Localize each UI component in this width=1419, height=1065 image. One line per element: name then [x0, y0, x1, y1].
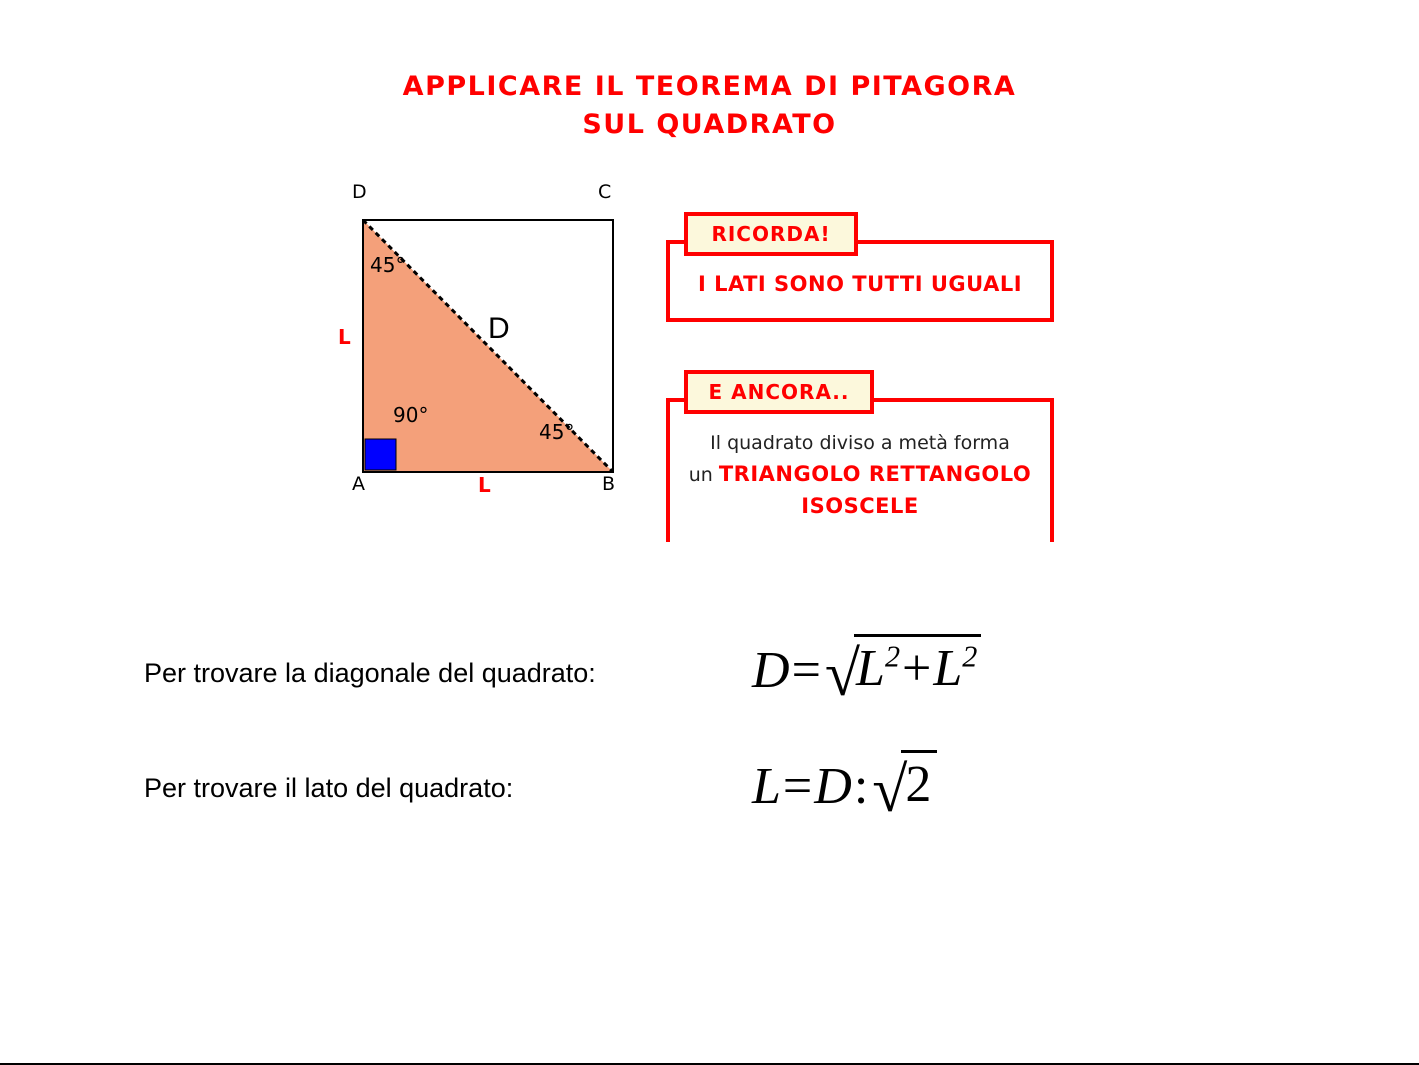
formula-lato: L=D:√2	[752, 752, 937, 816]
angle-label-90: 90°	[393, 403, 428, 427]
callout-ancora-line-2: un TRIANGOLO RETTANGOLO	[666, 459, 1054, 491]
callout-ancora-line-2-plain: un	[689, 464, 719, 486]
formula-diagonale: D=√L2+L2	[752, 636, 981, 700]
formula-lato-sqrt: √2	[870, 752, 937, 816]
right-angle-marker	[365, 439, 396, 470]
formula-diagonale-equals: =	[790, 642, 823, 699]
angle-label-45-top: 45°	[370, 253, 405, 277]
formula-diagonale-radicand: L2+L2	[854, 634, 981, 698]
side-label-left: L	[338, 325, 351, 349]
page-title: APPLICARE IL TEOREMA DI PITAGORA SUL QUA…	[0, 68, 1419, 144]
formula-diagonale-lhs: D	[752, 642, 790, 699]
explanation-row-diagonale: Per trovare la diagonale del quadrato:	[144, 658, 596, 689]
diagonal-label: D	[488, 312, 510, 346]
formula-diagonale-term-b: L	[933, 640, 962, 697]
square-diagram: D C A B L L 45° 45° 90° D	[330, 175, 650, 510]
explanation-text-diagonale: Per trovare la diagonale del quadrato:	[144, 658, 596, 689]
formula-lato-colon: :	[852, 758, 870, 815]
callout-ricorda-text: I LATI SONO TUTTI UGUALI	[666, 269, 1054, 299]
angle-label-45-bottom: 45°	[539, 420, 574, 444]
explanation-text-lato: Per trovare il lato del quadrato:	[144, 773, 513, 804]
side-label-bottom: L	[478, 473, 491, 497]
callout-ricorda: RICORDA! I LATI SONO TUTTI UGUALI	[666, 212, 1054, 322]
vertex-label-a: A	[352, 473, 365, 495]
callout-ancora: E ANCORA.. Il quadrato diviso a metà for…	[666, 370, 1054, 542]
callout-ancora-header: E ANCORA..	[684, 370, 874, 414]
callout-ancora-line-2-highlight: TRIANGOLO RETTANGOLO	[719, 462, 1031, 486]
formula-lato-equals: =	[781, 758, 814, 815]
formula-diagonale-exp-b: 2	[962, 640, 977, 674]
vertex-label-d-top: D	[352, 181, 367, 203]
formula-lato-lhs: L	[752, 758, 781, 815]
formula-diagonale-exp-a: 2	[885, 640, 900, 674]
vertex-label-c: C	[598, 181, 611, 203]
vertex-label-b: B	[602, 473, 615, 495]
callout-ancora-line-3: ISOSCELE	[666, 491, 1054, 522]
title-line-1: APPLICARE IL TEOREMA DI PITAGORA	[0, 68, 1419, 106]
callout-ancora-line-1: Il quadrato diviso a metà forma	[666, 428, 1054, 459]
formula-diagonale-term-a: L	[856, 640, 885, 697]
explanation-row-lato: Per trovare il lato del quadrato:	[144, 773, 513, 804]
callout-ricorda-header: RICORDA!	[684, 212, 858, 256]
formula-lato-radicand: 2	[901, 750, 937, 814]
formula-diagonale-sqrt: √L2+L2	[823, 636, 981, 700]
formula-lato-rhs: D	[814, 758, 852, 815]
formula-diagonale-plus: +	[900, 640, 933, 697]
title-line-2: SUL QUADRATO	[0, 106, 1419, 144]
formula-lato-radicand-value: 2	[903, 756, 933, 813]
callout-ancora-text: Il quadrato diviso a metà forma un TRIAN…	[666, 428, 1054, 522]
